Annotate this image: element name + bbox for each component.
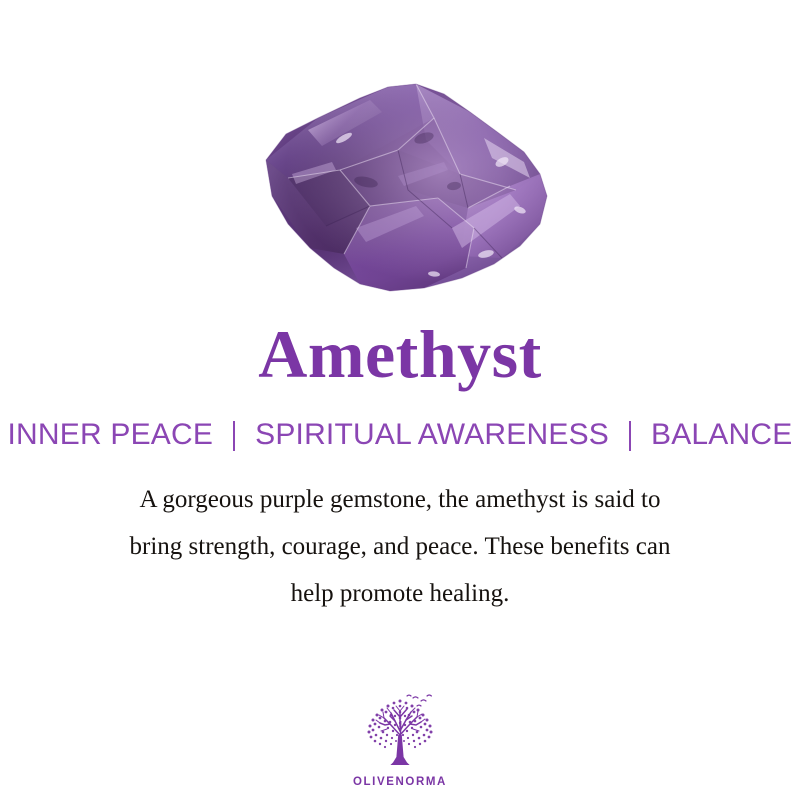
keyword-inner-peace: INNER PEACE [4,418,218,452]
keyword-list: INNER PEACE SPIRITUAL AWARENESS BALANCE [4,418,797,452]
amethyst-crystal-graphic [248,78,560,300]
page-title: Amethyst [258,320,542,388]
hero-image-area [0,0,800,320]
amethyst-crystal-image [248,78,560,300]
amethyst-info-card: Amethyst INNER PEACE SPIRITUAL AWARENESS… [0,0,800,800]
keyword-separator-1 [233,421,235,451]
description-text: A gorgeous purple gemstone, the amethyst… [50,476,750,617]
description-line-1: A gorgeous purple gemstone, the amethyst… [50,476,750,523]
keyword-spiritual-awareness: SPIRITUAL AWARENESS [251,418,613,452]
description-line-2: bring strength, courage, and peace. Thes… [50,523,750,570]
brand-logo: OLIVENORMA [0,691,800,788]
brand-wordmark: OLIVENORMA [353,776,447,788]
keyword-balance: BALANCE [647,418,796,452]
tree-of-life-icon [357,691,443,775]
keyword-separator-2 [629,421,631,451]
description-line-3: help promote healing. [50,570,750,617]
